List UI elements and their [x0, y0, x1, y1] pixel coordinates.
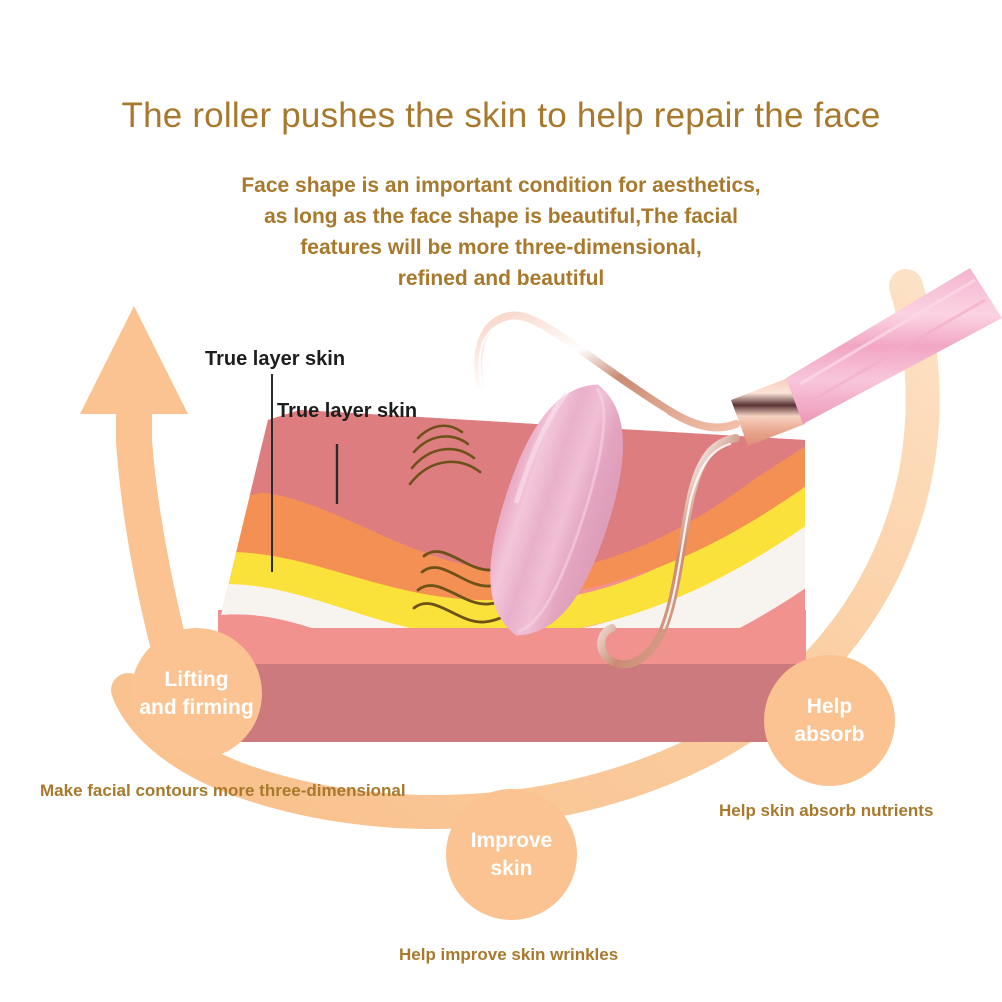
benefit-circle-lifting[interactable]: Lifting and firming	[131, 628, 262, 759]
benefit-circle-improve-text: Improve skin	[471, 827, 553, 883]
benefit-improve-line-2: skin	[490, 857, 532, 880]
page-subtitle: Face shape is an important condition for…	[0, 170, 1002, 294]
infographic-root: The roller pushes the skin to help repai…	[0, 0, 1002, 1002]
subtitle-line-2: as long as the face shape is beautiful,T…	[0, 201, 1002, 232]
subtitle-line-3: features will be more three-dimensional,	[0, 232, 1002, 263]
benefit-improve-line-1: Improve	[471, 829, 553, 852]
benefit-absorb-line-1: Help	[807, 695, 853, 718]
benefit-circle-lifting-text: Lifting and firming	[139, 666, 253, 722]
benefit-caption-lifting: Make facial contours more three-dimensio…	[40, 781, 406, 801]
benefit-caption-improve: Help improve skin wrinkles	[399, 945, 618, 965]
benefit-circle-absorb[interactable]: Help absorb	[764, 655, 895, 786]
roller-stone-head	[466, 368, 648, 652]
skin-layer-label-outer: True layer skin	[205, 348, 345, 371]
subtitle-line-4: refined and beautiful	[0, 263, 1002, 294]
benefit-circle-improve[interactable]: Improve skin	[446, 789, 577, 920]
page-title: The roller pushes the skin to help repai…	[0, 96, 1002, 136]
skin-layer-label-inner: True layer skin	[277, 400, 417, 423]
benefit-lifting-line-2: and firming	[139, 696, 253, 719]
benefit-lifting-line-1: Lifting	[164, 668, 228, 691]
benefit-circle-absorb-text: Help absorb	[794, 693, 864, 749]
benefit-absorb-line-2: absorb	[794, 723, 864, 746]
benefit-caption-absorb: Help skin absorb nutrients	[719, 801, 933, 821]
subtitle-line-1: Face shape is an important condition for…	[0, 170, 1002, 201]
